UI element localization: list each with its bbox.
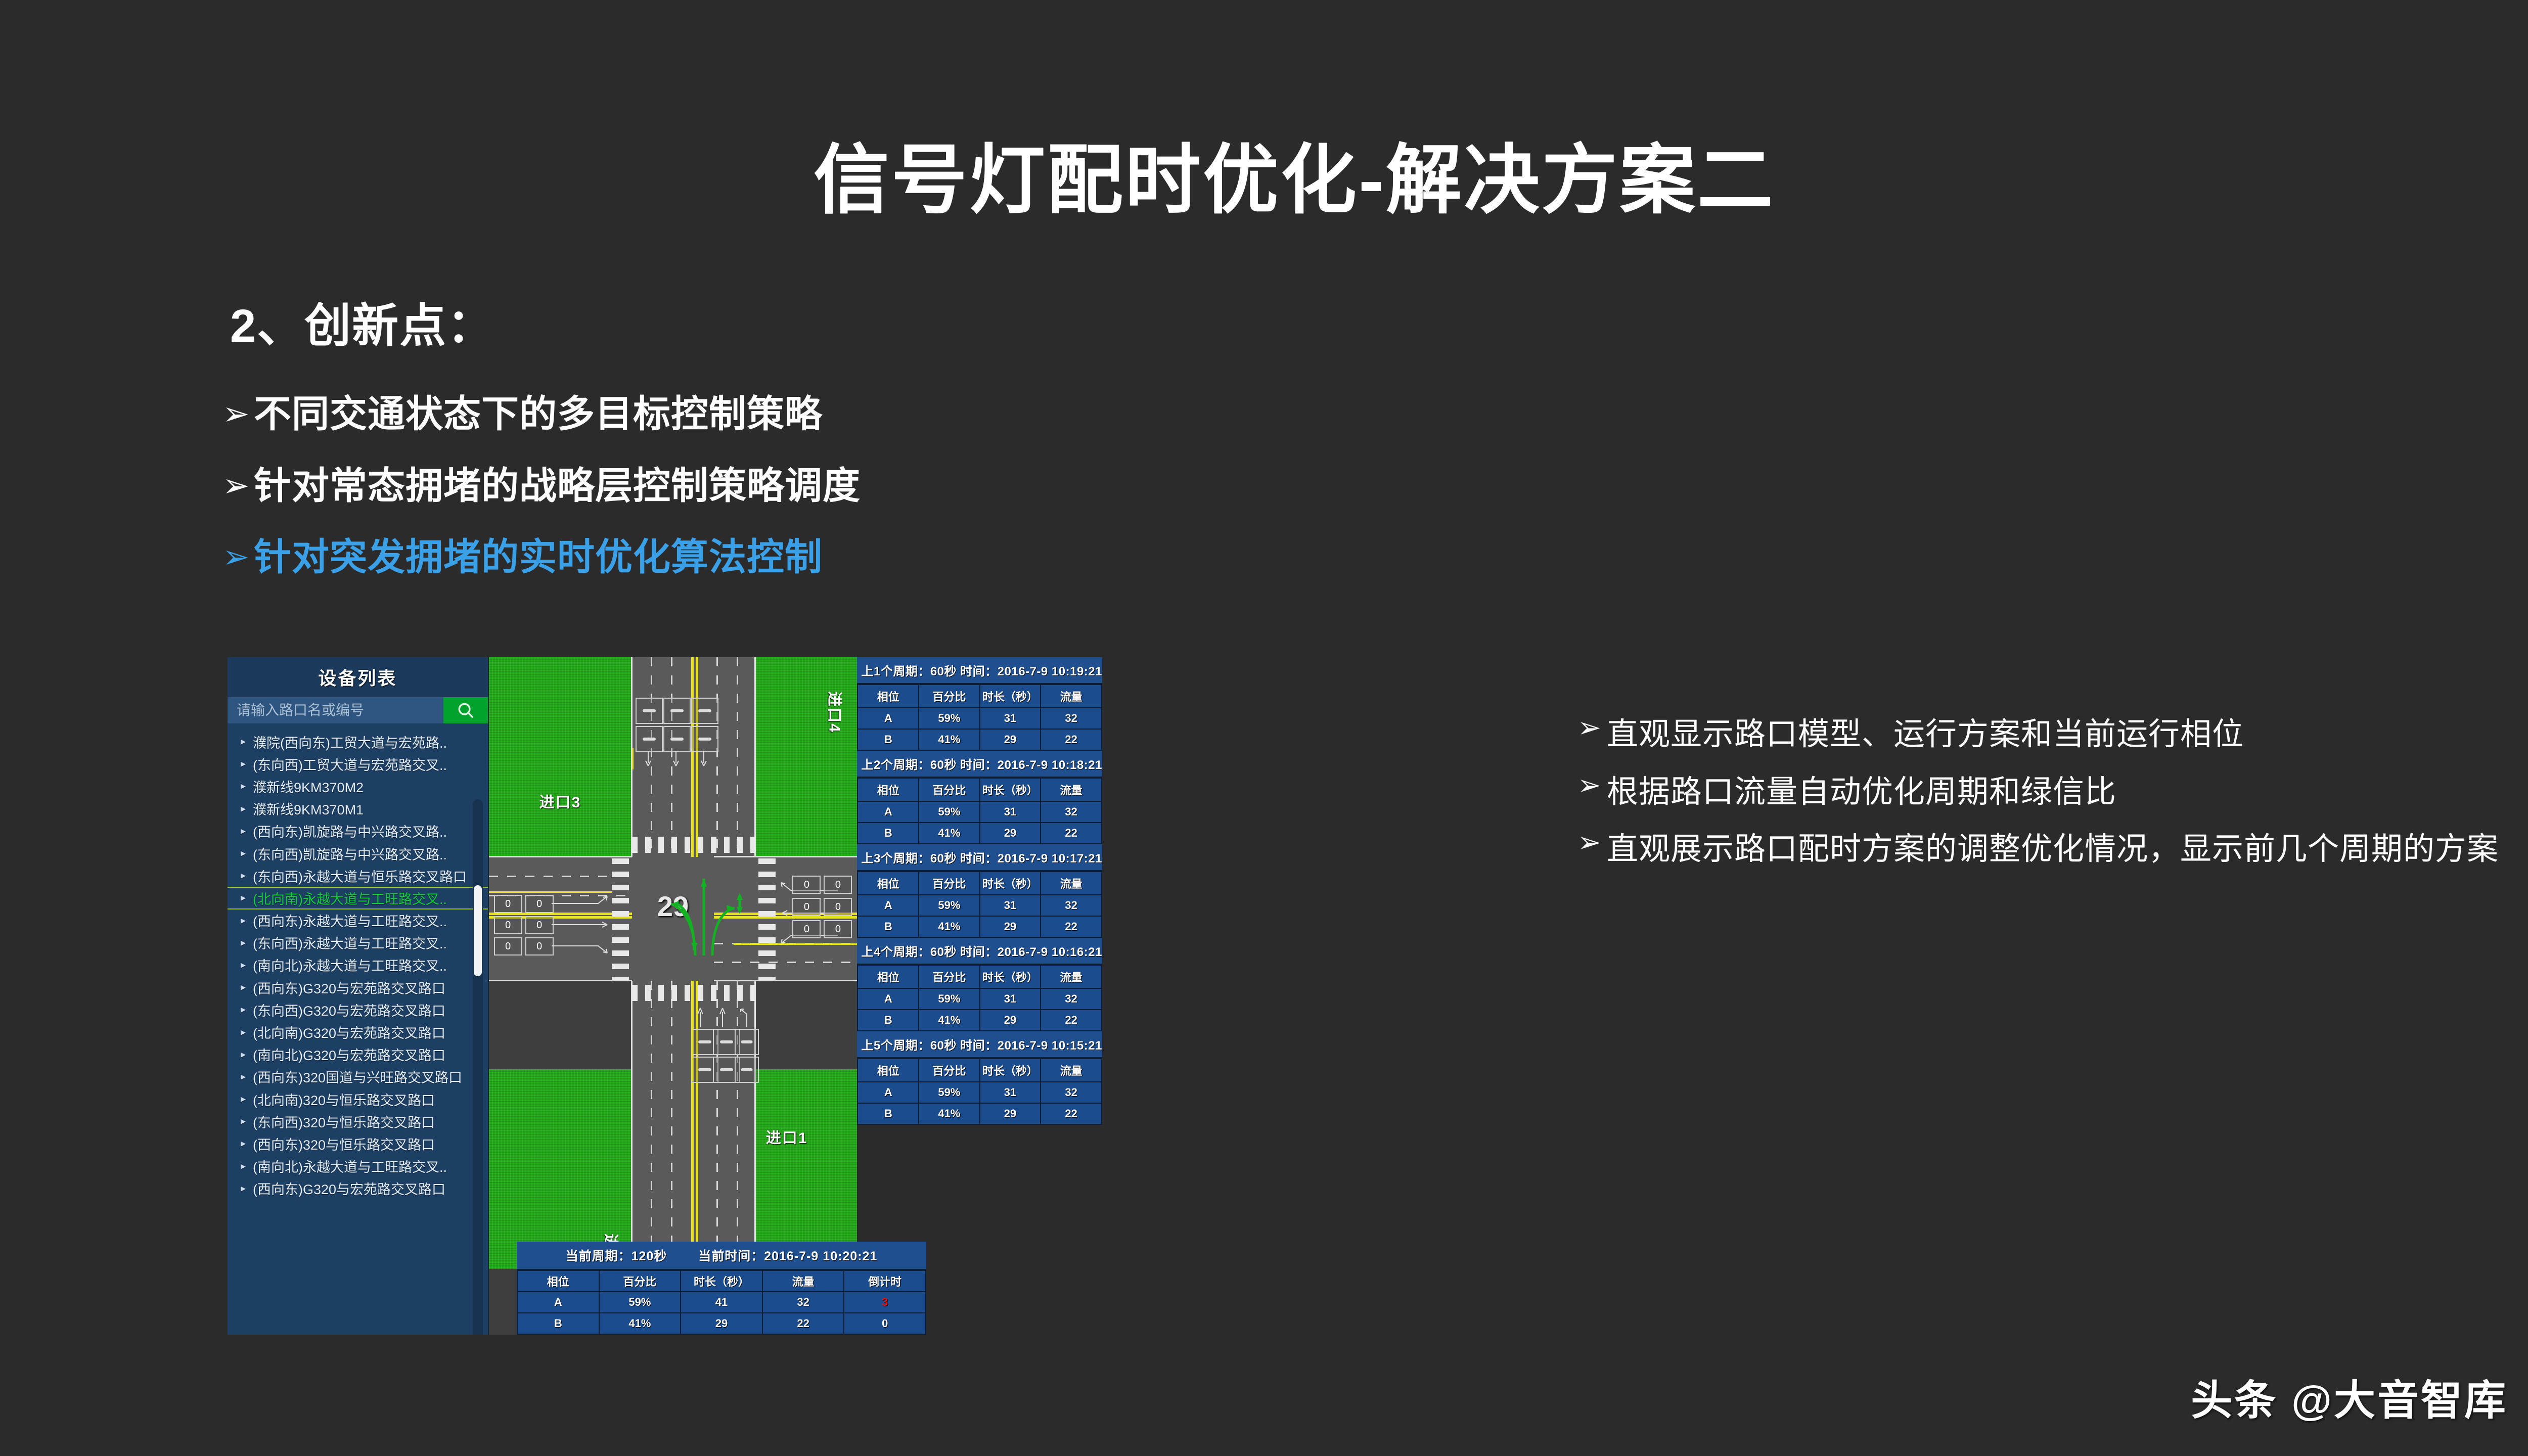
cell-phase: B — [857, 916, 919, 937]
device-list-item[interactable]: ▸(西向东)凯旋路与中兴路交叉路.. — [228, 820, 488, 842]
col-1: 百分比 — [919, 685, 980, 708]
search-row — [228, 697, 488, 723]
table-row: B41%2922 — [857, 729, 1102, 750]
detector-car-n6 — [691, 726, 718, 752]
detector-e4: 0 — [824, 898, 852, 916]
col-1: 百分比 — [919, 872, 980, 895]
cell-duration: 29 — [980, 916, 1041, 937]
previous-cycle-header: 上2个周期：60秒 时间：2016-7-9 10:18:21 — [857, 751, 1102, 778]
crosswalk-south — [632, 985, 755, 1001]
table-header-row: 相位 百分比 时长（秒） 流量 倒计时 — [517, 1270, 926, 1292]
col-percent: 百分比 — [599, 1270, 681, 1292]
table-row: A59%3132 — [857, 895, 1102, 916]
table-header-row: 相位百分比时长（秒）流量 — [857, 872, 1102, 895]
col-0: 相位 — [857, 1059, 919, 1082]
bullet-arrow-icon: ➢ — [222, 469, 254, 502]
col-0: 相位 — [857, 872, 919, 895]
cell-flow: 22 — [1041, 729, 1102, 750]
sidebar-scrollbar[interactable] — [473, 799, 483, 1335]
device-list-item[interactable]: ▸(东向西)永越大道与工旺路交叉.. — [228, 932, 488, 954]
device-list-item-label: (西向东)320与恒乐路交叉路口 — [253, 1134, 435, 1154]
col-2: 时长（秒） — [980, 872, 1041, 895]
col-3: 流量 — [1041, 1059, 1102, 1082]
cell-duration: 31 — [980, 708, 1041, 729]
search-button[interactable] — [443, 697, 488, 723]
bullet-dot-icon: ▸ — [241, 982, 249, 992]
stopline-east — [734, 943, 857, 945]
watermark: 头条 @大音智库 — [2191, 1367, 2508, 1427]
cell-countdown: 3 — [844, 1292, 926, 1313]
bullet-arrow-icon: ➢ — [222, 397, 254, 430]
table-row: B41%2922 — [857, 916, 1102, 937]
cell-flow: 22 — [1041, 1010, 1102, 1031]
previous-cycle-block: 上2个周期：60秒 时间：2016-7-9 10:18:21相位百分比时长（秒）… — [857, 751, 1102, 844]
cell-phase: A — [517, 1292, 599, 1313]
device-list-item[interactable]: ▸(东向西)320与恒乐路交叉路口 — [228, 1110, 488, 1132]
current-cycle-label: 当前周期：120秒 — [566, 1249, 667, 1263]
col-2: 时长（秒） — [980, 1059, 1041, 1082]
device-list-item-label: (东向西)永越大道与恒乐路交叉路口 — [253, 866, 467, 886]
previous-cycle-block: 上1个周期：60秒 时间：2016-7-9 10:19:21相位百分比时长（秒）… — [857, 657, 1102, 751]
bullet-dot-icon: ▸ — [241, 781, 249, 791]
detector-car-n4 — [636, 726, 663, 752]
lane-dash-n4 — [737, 657, 738, 857]
cell-duration: 31 — [980, 1082, 1041, 1103]
feature-description-list: ➢ 直观显示路口模型、运行方案和当前运行相位 ➢ 根据路口流量自动优化周期和绿信… — [1577, 713, 2503, 885]
cell-flow: 22 — [1041, 823, 1102, 844]
device-list-item[interactable]: ▸(南向北)G320与宏苑路交叉路口 — [228, 1043, 488, 1066]
detector-e5: 0 — [792, 920, 821, 938]
col-0: 相位 — [857, 965, 919, 988]
detector-car-n2 — [663, 698, 691, 724]
device-list-item[interactable]: ▸濮新线9KM370M2 — [228, 775, 488, 797]
col-3: 流量 — [1041, 685, 1102, 708]
stopline-south — [691, 1005, 693, 1081]
cell-duration: 29 — [681, 1313, 762, 1334]
lane-dash-w1 — [489, 876, 632, 877]
innovation-points-list: ➢ 不同交通状态下的多目标控制策略 ➢ 针对常态拥堵的战略层控制策略调度 ➢ 针… — [222, 394, 1183, 609]
cell-countdown: 0 — [844, 1313, 926, 1334]
cell-flow: 32 — [762, 1292, 844, 1313]
cell-phase: B — [857, 729, 919, 750]
lane-dash-s1 — [651, 981, 652, 1269]
cell-percent: 59% — [919, 801, 980, 823]
crosswalk-east — [758, 858, 776, 980]
cell-flow: 22 — [762, 1313, 844, 1334]
road-edge-es — [714, 980, 857, 981]
detector-w3: 0 — [494, 916, 522, 934]
stopline-west — [489, 891, 612, 893]
current-time-label: 当前时间：2016-7-9 10:20:21 — [698, 1249, 877, 1263]
bullet-dot-icon: ▸ — [241, 1161, 249, 1171]
list-item-label: 直观显示路口模型、运行方案和当前运行相位 — [1607, 713, 2244, 756]
col-2: 时长（秒） — [980, 778, 1041, 801]
detector-w2: 0 — [525, 895, 554, 913]
bullet-dot-icon: ▸ — [241, 916, 249, 926]
cell-percent: 59% — [919, 988, 980, 1010]
device-list-item-label: (北向南)G320与宏苑路交叉路口 — [253, 1022, 445, 1042]
current-cycle-panel: 当前周期：120秒 当前时间：2016-7-9 10:20:21 相位 百分比 … — [517, 1242, 926, 1335]
cell-phase: A — [857, 708, 919, 729]
device-list-item-label: (西向东)永越大道与工旺路交叉.. — [253, 911, 447, 930]
list-item: ➢ 针对常态拥堵的战略层控制策略调度 — [222, 466, 1183, 506]
lane-dash-e2 — [714, 962, 857, 963]
device-list-item[interactable]: ▸(北向南)永越大道与工旺路交叉.. — [228, 887, 488, 909]
cell-flow: 32 — [1041, 895, 1102, 916]
cell-duration: 29 — [980, 1010, 1041, 1031]
lane-arrows-north — [633, 751, 721, 768]
current-cycle-header: 当前周期：120秒 当前时间：2016-7-9 10:20:21 — [517, 1242, 926, 1270]
device-list-item-label: (西向东)320国道与兴旺路交叉路口 — [253, 1067, 462, 1086]
bullet-dot-icon: ▸ — [241, 1072, 249, 1082]
active-phase-arrows-icon — [656, 870, 752, 955]
crosswalk-north — [632, 837, 755, 853]
device-list-item[interactable]: ▸(南向北)永越大道与工旺路交叉.. — [228, 954, 488, 976]
bullet-dot-icon: ▸ — [241, 1184, 249, 1194]
bullet-dot-icon: ▸ — [241, 1139, 249, 1149]
bullet-dot-icon: ▸ — [241, 893, 249, 903]
detector-e6: 0 — [824, 920, 852, 938]
col-3: 流量 — [1041, 872, 1102, 895]
device-list-item-label: (西向东)凯旋路与中兴路交叉路.. — [253, 821, 447, 841]
page-title: 信号灯配时优化-解决方案二 — [0, 119, 2528, 229]
bullet-arrow-icon: ➢ — [1577, 770, 1607, 800]
table-row: A59%3132 — [857, 708, 1102, 729]
previous-cycle-table: 相位百分比时长（秒）流量A59%3132B41%2922 — [857, 871, 1102, 938]
list-item-label: 直观展示路口配时方案的调整优化情况，显示前几个周期的方案 — [1607, 828, 2499, 871]
bullet-dot-icon: ▸ — [241, 960, 249, 970]
detector-car-n1 — [636, 698, 663, 724]
cell-duration: 29 — [980, 823, 1041, 844]
device-list-item-label: (东向西)320与恒乐路交叉路口 — [253, 1112, 435, 1131]
device-list-item[interactable]: ▸(北向南)G320与宏苑路交叉路口 — [228, 1021, 488, 1043]
road-edge-sw — [631, 981, 633, 1269]
device-list-item-label: (西向东)G320与宏苑路交叉路口 — [253, 978, 445, 997]
previous-cycle-header: 上5个周期：60秒 时间：2016-7-9 10:15:21 — [857, 1031, 1102, 1058]
cell-phase: A — [857, 801, 919, 823]
table-row: A59%3132 — [857, 988, 1102, 1010]
cell-phase: B — [857, 1010, 919, 1031]
detector-w6: 0 — [525, 937, 554, 955]
device-list-item-label: 濮院(西向东)工贸大道与宏苑路.. — [253, 732, 447, 752]
table-header-row: 相位百分比时长（秒）流量 — [857, 1059, 1102, 1082]
device-list-item[interactable]: ▸(西向东)320国道与兴旺路交叉路口 — [228, 1066, 488, 1088]
stopline-north — [632, 748, 634, 769]
cell-percent: 41% — [919, 729, 980, 750]
cell-phase: A — [857, 895, 919, 916]
grass-area-northwest — [489, 657, 632, 857]
detector-car-n5 — [663, 726, 691, 752]
cell-percent: 59% — [599, 1292, 681, 1313]
list-item: ➢ 直观显示路口模型、运行方案和当前运行相位 — [1577, 713, 2503, 756]
col-phase: 相位 — [517, 1270, 599, 1292]
device-list-item[interactable]: ▸(东向西)永越大道与恒乐路交叉路口 — [228, 864, 488, 887]
cell-percent: 59% — [919, 895, 980, 916]
slide-root: 信号灯配时优化-解决方案二 2、创新点： ➢ 不同交通状态下的多目标控制策略 ➢… — [0, 0, 2528, 1456]
device-list-title: 设备列表 — [228, 657, 488, 697]
bullet-dot-icon: ▸ — [241, 826, 249, 836]
bullet-dot-icon: ▸ — [241, 737, 249, 747]
cell-percent: 41% — [599, 1313, 681, 1334]
detector-car-s6 — [735, 1057, 759, 1083]
detector-e1: 0 — [792, 876, 821, 894]
table-row: B 41% 29 22 0 — [517, 1313, 926, 1334]
bullet-dot-icon: ▸ — [241, 1005, 249, 1015]
crosswalk-west — [612, 858, 629, 980]
road-edge-ne — [754, 657, 756, 857]
cell-flow: 22 — [1041, 1103, 1102, 1124]
search-icon — [456, 701, 475, 720]
approach-label-west: 进口3 — [539, 790, 581, 812]
previous-cycle-header: 上4个周期：60秒 时间：2016-7-9 10:16:21 — [857, 938, 1102, 965]
device-list-item-label: (东向西)G320与宏苑路交叉路口 — [253, 1000, 445, 1020]
previous-cycle-block: 上5个周期：60秒 时间：2016-7-9 10:15:21相位百分比时长（秒）… — [857, 1031, 1102, 1125]
device-list-sidebar: 设备列表 ▸濮院(西向东)工贸大道与宏苑路..▸(东向西)工贸大道与宏苑路交叉.… — [228, 657, 489, 1335]
previous-cycle-table: 相位百分比时长（秒）流量A59%3132B41%2922 — [857, 1058, 1102, 1125]
previous-cycle-table: 相位百分比时长（秒）流量A59%3132B41%2922 — [857, 684, 1102, 751]
col-3: 流量 — [1041, 778, 1102, 801]
device-list-item[interactable]: ▸(东向西)工贸大道与宏苑路交叉.. — [228, 753, 488, 775]
previous-cycle-header: 上1个周期：60秒 时间：2016-7-9 10:19:21 — [857, 657, 1102, 684]
col-1: 百分比 — [919, 965, 980, 988]
cell-percent: 41% — [919, 916, 980, 937]
cell-flow: 32 — [1041, 988, 1102, 1010]
detector-car-n3 — [691, 698, 718, 724]
previous-cycle-block: 上4个周期：60秒 时间：2016-7-9 10:16:21相位百分比时长（秒）… — [857, 938, 1102, 1031]
list-item: ➢ 根据路口流量自动优化周期和绿信比 — [1577, 770, 2503, 814]
bullet-dot-icon: ▸ — [241, 804, 249, 814]
list-item-label: 不同交通状态下的多目标控制策略 — [254, 394, 823, 434]
table-row: A 59% 41 32 3 — [517, 1292, 926, 1313]
approach-label-north: 进口4 — [825, 691, 847, 733]
col-0: 相位 — [857, 685, 919, 708]
detector-car-s3 — [735, 1029, 759, 1055]
device-list-item-label: (南向北)永越大道与工旺路交叉.. — [253, 1156, 447, 1176]
detector-e2: 0 — [824, 876, 852, 894]
intersection-map[interactable]: 0 0 0 0 0 0 0 0 0 0 0 0 — [489, 657, 857, 1335]
detector-w1: 0 — [494, 895, 522, 913]
list-item-label: 针对突发拥堵的实时优化算法控制 — [254, 537, 823, 577]
device-list-item[interactable]: ▸濮新线9KM370M1 — [228, 798, 488, 820]
bullet-dot-icon: ▸ — [241, 1027, 249, 1037]
table-header-row: 相位百分比时长（秒）流量 — [857, 965, 1102, 988]
traffic-signal-app-screenshot: 设备列表 ▸濮院(西向东)工贸大道与宏苑路..▸(东向西)工贸大道与宏苑路交叉.… — [228, 657, 1102, 1335]
cell-phase: A — [857, 988, 919, 1010]
device-list-item-label: (南向北)永越大道与工旺路交叉.. — [253, 955, 447, 975]
approach-label-east: 进口1 — [766, 1125, 808, 1148]
bullet-dot-icon: ▸ — [241, 1116, 249, 1126]
cell-duration: 31 — [980, 895, 1041, 916]
col-1: 百分比 — [919, 1059, 980, 1082]
col-countdown: 倒计时 — [844, 1270, 926, 1292]
device-list-item[interactable]: ▸(西向东)G320与宏苑路交叉路口 — [228, 976, 488, 998]
cell-percent: 41% — [919, 1103, 980, 1124]
device-list-item[interactable]: ▸(北向南)320与恒乐路交叉路口 — [228, 1088, 488, 1110]
cell-duration: 41 — [681, 1292, 762, 1313]
cell-duration: 29 — [980, 729, 1041, 750]
cell-duration: 29 — [980, 1103, 1041, 1124]
device-list[interactable]: ▸濮院(西向东)工贸大道与宏苑路..▸(东向西)工贸大道与宏苑路交叉..▸濮新线… — [228, 723, 488, 1335]
device-list-item-label: (北向南)320与恒乐路交叉路口 — [253, 1089, 435, 1109]
cell-flow: 32 — [1041, 1082, 1102, 1103]
table-row: B41%2922 — [857, 1010, 1102, 1031]
section-heading: 2、创新点： — [230, 288, 494, 355]
col-2: 时长（秒） — [980, 685, 1041, 708]
list-item: ➢ 直观展示路口配时方案的调整优化情况，显示前几个周期的方案 — [1577, 828, 2503, 871]
cell-phase: B — [517, 1313, 599, 1334]
current-cycle-table: 相位 百分比 时长（秒） 流量 倒计时 A 59% 41 32 3 B — [517, 1270, 926, 1335]
previous-cycles-panel: 上1个周期：60秒 时间：2016-7-9 10:19:21相位百分比时长（秒）… — [857, 657, 1102, 1335]
search-input[interactable] — [228, 697, 443, 723]
device-list-item-label: 濮新线9KM370M1 — [253, 799, 364, 818]
bullet-dot-icon: ▸ — [241, 1050, 249, 1060]
previous-cycle-header: 上3个周期：60秒 时间：2016-7-9 10:17:21 — [857, 844, 1102, 871]
bullet-arrow-icon: ➢ — [1577, 828, 1607, 857]
cell-phase: A — [857, 1082, 919, 1103]
table-header-row: 相位百分比时长（秒）流量 — [857, 778, 1102, 801]
table-row: A59%3132 — [857, 1082, 1102, 1103]
col-0: 相位 — [857, 778, 919, 801]
cell-percent: 41% — [919, 1010, 980, 1031]
cell-phase: B — [857, 1103, 919, 1124]
lane-arrows-west — [552, 892, 612, 958]
cell-flow: 32 — [1041, 801, 1102, 823]
table-header-row: 相位百分比时长（秒）流量 — [857, 685, 1102, 708]
bullet-dot-icon: ▸ — [241, 848, 249, 858]
cell-duration: 31 — [980, 801, 1041, 823]
list-item-label: 针对常态拥堵的战略层控制策略调度 — [254, 466, 861, 506]
list-item-label: 根据路口流量自动优化周期和绿信比 — [1607, 770, 2116, 814]
cell-percent: 41% — [919, 823, 980, 844]
col-flow: 流量 — [762, 1270, 844, 1292]
bullet-dot-icon: ▸ — [241, 759, 249, 769]
detector-w5: 0 — [494, 937, 522, 955]
device-list-item[interactable]: ▸(西向东)320与恒乐路交叉路口 — [228, 1132, 488, 1155]
cell-percent: 59% — [919, 1082, 980, 1103]
bullet-dot-icon: ▸ — [241, 1094, 249, 1104]
sidebar-scroll-thumb[interactable] — [474, 885, 482, 976]
bullet-dot-icon: ▸ — [241, 938, 249, 948]
col-1: 百分比 — [919, 778, 980, 801]
device-list-item-label: (东向西)工贸大道与宏苑路交叉.. — [253, 754, 447, 774]
detector-w4: 0 — [525, 916, 554, 934]
device-list-item-label: 濮新线9KM370M2 — [253, 777, 364, 796]
previous-cycle-table: 相位百分比时长（秒）流量A59%3132B41%2922 — [857, 965, 1102, 1031]
device-list-item-label: (东向西)凯旋路与中兴路交叉路.. — [253, 844, 447, 863]
device-list-item[interactable]: ▸(南向北)永越大道与工旺路交叉.. — [228, 1155, 488, 1177]
device-list-item-label: (西向东)G320与宏苑路交叉路口 — [253, 1178, 445, 1198]
device-list-item-label: (南向北)G320与宏苑路交叉路口 — [253, 1044, 445, 1064]
cell-percent: 59% — [919, 708, 980, 729]
device-list-item-label: (北向南)永越大道与工旺路交叉.. — [253, 888, 447, 908]
bullet-arrow-icon: ➢ — [1577, 713, 1607, 743]
cell-flow: 32 — [1041, 708, 1102, 729]
bullet-arrow-icon: ➢ — [222, 540, 254, 573]
cell-phase: B — [857, 823, 919, 844]
device-list-item[interactable]: ▸(西向东)永越大道与工旺路交叉.. — [228, 909, 488, 932]
col-2: 时长（秒） — [980, 965, 1041, 988]
device-list-item-label: (东向西)永越大道与工旺路交叉.. — [253, 933, 447, 952]
road-edge-en — [714, 856, 857, 857]
detector-e3: 0 — [792, 898, 821, 916]
bullet-dot-icon: ▸ — [241, 871, 249, 881]
road-edge-ws — [489, 980, 632, 981]
device-list-item[interactable]: ▸(东向西)G320与宏苑路交叉路口 — [228, 998, 488, 1021]
table-row: A59%3132 — [857, 801, 1102, 823]
col-duration: 时长（秒） — [681, 1270, 762, 1292]
table-row: B41%2922 — [857, 1103, 1102, 1124]
device-list-item[interactable]: ▸(西向东)G320与宏苑路交叉路口 — [228, 1177, 488, 1200]
lane-arrows-south — [691, 1005, 757, 1027]
cell-flow: 22 — [1041, 916, 1102, 937]
lane-dash-s2 — [671, 981, 672, 1269]
table-row: B41%2922 — [857, 823, 1102, 844]
previous-cycle-table: 相位百分比时长（秒）流量A59%3132B41%2922 — [857, 778, 1102, 844]
list-item: ➢ 不同交通状态下的多目标控制策略 — [222, 394, 1183, 434]
col-3: 流量 — [1041, 965, 1102, 988]
device-list-item[interactable]: ▸濮院(西向东)工贸大道与宏苑路.. — [228, 731, 488, 753]
list-item: ➢ 针对突发拥堵的实时优化算法控制 — [222, 537, 1183, 577]
device-list-item[interactable]: ▸(东向西)凯旋路与中兴路交叉路.. — [228, 842, 488, 864]
road-edge-wn — [489, 856, 632, 857]
previous-cycle-block: 上3个周期：60秒 时间：2016-7-9 10:17:21相位百分比时长（秒）… — [857, 844, 1102, 938]
cell-duration: 31 — [980, 988, 1041, 1010]
